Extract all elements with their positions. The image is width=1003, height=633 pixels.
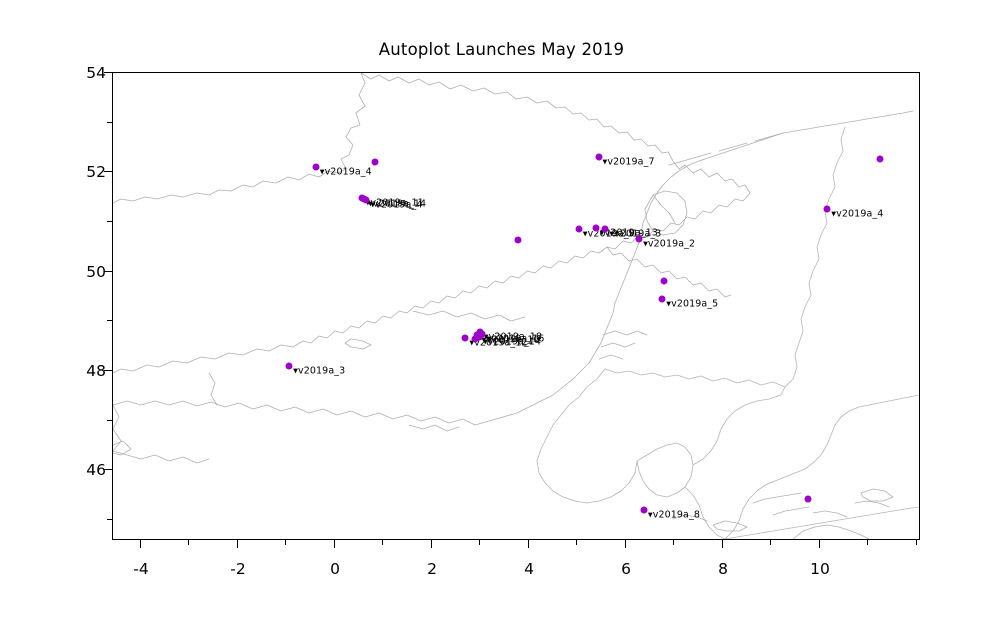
xtick-major bbox=[334, 540, 335, 548]
chart-title: Autoplot Launches May 2019 bbox=[0, 40, 1003, 59]
ytick-label-54: 54 bbox=[62, 64, 106, 82]
xtick-minor bbox=[916, 540, 917, 545]
ytick-major bbox=[104, 171, 112, 172]
xtick-major bbox=[625, 540, 626, 548]
scatter-point[interactable] bbox=[824, 205, 831, 212]
scatter-point[interactable] bbox=[877, 155, 884, 162]
ytick-label-52: 52 bbox=[62, 163, 106, 181]
scatter-point[interactable] bbox=[640, 507, 647, 514]
xtick-minor bbox=[382, 540, 383, 545]
ytick-label-48: 48 bbox=[62, 362, 106, 380]
xtick-major bbox=[819, 540, 820, 548]
scatter-point[interactable] bbox=[636, 235, 643, 242]
xtick-label-0: 0 bbox=[305, 560, 365, 578]
scatter-point-label: ▾v2019a_4 bbox=[320, 167, 372, 178]
xtick-label-m2: -2 bbox=[208, 560, 268, 578]
xtick-label-10: 10 bbox=[790, 560, 850, 578]
scatter-point[interactable] bbox=[363, 196, 370, 203]
scatter-point-label: ▾v2019a_5 bbox=[666, 298, 718, 309]
ytick-major bbox=[104, 271, 112, 272]
scatter-point[interactable] bbox=[286, 363, 293, 370]
scatter-point-label: ▾v2019a_7 bbox=[603, 156, 655, 167]
scatter-point-label: ▾v2019a_4 bbox=[370, 199, 422, 210]
ytick-label-50: 50 bbox=[62, 263, 106, 281]
xtick-label-6: 6 bbox=[596, 560, 656, 578]
figure-canvas: Autoplot Launches May 2019 54 52 50 48 4… bbox=[0, 0, 1003, 633]
xtick-major bbox=[528, 540, 529, 548]
scatter-point[interactable] bbox=[595, 153, 602, 160]
xtick-minor bbox=[673, 540, 674, 545]
scatter-point-label: ▾v2019a_2 bbox=[643, 238, 695, 249]
scatter-point-label: ▾v2019a_4 bbox=[831, 208, 883, 219]
scatter-point[interactable] bbox=[804, 496, 811, 503]
scatter-point[interactable] bbox=[312, 164, 319, 171]
scatter-point-label: ▾v2019a_3 bbox=[293, 366, 345, 377]
scatter-point[interactable] bbox=[659, 295, 666, 302]
ytick-major bbox=[104, 72, 112, 73]
xtick-minor bbox=[285, 540, 286, 545]
scatter-point[interactable] bbox=[575, 226, 582, 233]
xtick-minor bbox=[576, 540, 577, 545]
ytick-major bbox=[104, 370, 112, 371]
scatter-point[interactable] bbox=[515, 236, 522, 243]
xtick-label-8: 8 bbox=[693, 560, 753, 578]
scatter-point[interactable] bbox=[471, 336, 478, 343]
xtick-major bbox=[722, 540, 723, 548]
scatter-point[interactable] bbox=[592, 224, 599, 231]
scatter-point-label: ▾v2019a_8 bbox=[648, 510, 700, 521]
xtick-minor bbox=[479, 540, 480, 545]
map-plot-area[interactable]: ▾v2019a_4▾v2019a_11▾v2019a_14▾v2019a_4▾v… bbox=[112, 72, 920, 540]
scatter-points-layer: ▾v2019a_4▾v2019a_11▾v2019a_14▾v2019a_4▾v… bbox=[113, 73, 919, 539]
xtick-label-m4: -4 bbox=[111, 560, 171, 578]
xtick-minor bbox=[188, 540, 189, 545]
ytick-major bbox=[104, 469, 112, 470]
scatter-point-label: ▾v2019a_14 bbox=[483, 336, 541, 347]
scatter-point[interactable] bbox=[602, 226, 609, 233]
xtick-label-2: 2 bbox=[402, 560, 462, 578]
xtick-major bbox=[140, 540, 141, 548]
xtick-major bbox=[237, 540, 238, 548]
xtick-major bbox=[431, 540, 432, 548]
xtick-minor bbox=[770, 540, 771, 545]
scatter-point[interactable] bbox=[462, 335, 469, 342]
xtick-minor bbox=[867, 540, 868, 545]
scatter-point[interactable] bbox=[661, 278, 668, 285]
scatter-point[interactable] bbox=[371, 159, 378, 166]
xtick-label-4: 4 bbox=[499, 560, 559, 578]
ytick-label-46: 46 bbox=[62, 461, 106, 479]
